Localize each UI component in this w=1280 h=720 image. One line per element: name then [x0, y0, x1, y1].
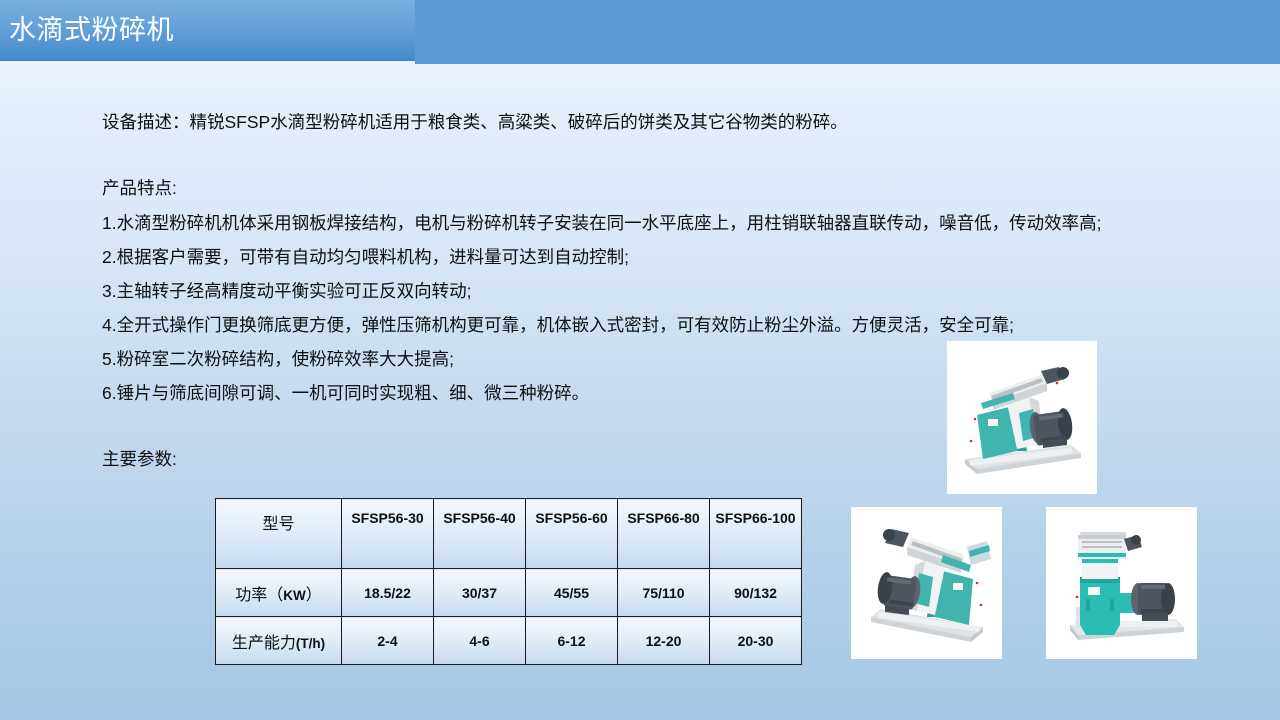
equipment-description: 设备描述：精锐SFSP水滴型粉碎机适用于粮食类、高粱类、破碎后的饼类及其它谷物类…: [102, 111, 848, 133]
cell-capacity-sfsp56-60: 6-12: [526, 617, 618, 665]
feature-item-2: 2.根据客户需要，可带有自动均匀喂料机构，进料量可达到自动控制;: [102, 246, 629, 268]
row-label-power-unit: KW: [283, 588, 306, 603]
table-header-row: 型号 SFSP56-30 SFSP56-40 SFSP56-60 SFSP66-…: [216, 499, 802, 569]
row-label-power-tail: ）: [306, 587, 322, 604]
cell-capacity-sfsp56-40: 4-6: [434, 617, 526, 665]
row-label-power-main: 功率（: [235, 587, 283, 604]
feature-item-3: 3.主轴转子经高精度动平衡实验可正反双向转动;: [102, 280, 471, 302]
row-label-power: 功率（KW）: [216, 569, 342, 617]
cell-power-sfsp66-100: 90/132: [710, 569, 802, 617]
cell-power-sfsp66-80: 75/110: [618, 569, 710, 617]
product-photo-front-view: [1046, 507, 1197, 659]
features-heading: 产品特点:: [102, 177, 177, 199]
feature-item-1: 1.水滴型粉碎机机体采用钢板焊接结构，电机与粉碎机转子安装在同一水平底座上，用柱…: [102, 212, 1101, 234]
cell-power-sfsp56-40: 30/37: [434, 569, 526, 617]
row-label-capacity: 生产能力(T/h): [216, 617, 342, 665]
cell-capacity-sfsp66-80: 12-20: [618, 617, 710, 665]
table-header-sfsp66-100: SFSP66-100: [710, 499, 802, 569]
cell-capacity-sfsp56-30: 2-4: [342, 617, 434, 665]
cell-power-sfsp56-60: 45/55: [526, 569, 618, 617]
table-row: 功率（KW） 18.5/22 30/37 45/55 75/110 90/132: [216, 569, 802, 617]
product-photo-angled-right-motor: [947, 341, 1097, 494]
header-accent-band-right: [415, 0, 1280, 64]
hammer-mill-illustration-3: [1046, 507, 1197, 659]
feature-item-4: 4.全开式操作门更换筛底更方便，弹性压筛机构更可靠，机体嵌入式密封，可有效防止粉…: [102, 314, 1014, 336]
cell-capacity-sfsp66-100: 20-30: [710, 617, 802, 665]
page-title: 水滴式粉碎机: [9, 13, 174, 47]
feature-item-5: 5.粉碎室二次粉碎结构，使粉碎效率大大提高;: [102, 348, 454, 370]
table-header-model: 型号: [216, 499, 342, 569]
table-header-sfsp56-30: SFSP56-30: [342, 499, 434, 569]
hammer-mill-illustration-1: [947, 341, 1097, 494]
row-label-capacity-unit: (T/h): [296, 636, 325, 651]
specifications-table: 型号 SFSP56-30 SFSP56-40 SFSP56-60 SFSP66-…: [215, 498, 802, 665]
table-row: 生产能力(T/h) 2-4 4-6 6-12 12-20 20-30: [216, 617, 802, 665]
feature-item-6: 6.锤片与筛底间隙可调、一机可同时实现粗、细、微三种粉碎。: [102, 382, 589, 404]
header-bar: 水滴式粉碎机: [0, 0, 1280, 64]
parameters-heading: 主要参数:: [102, 448, 177, 470]
row-label-capacity-main: 生产能力: [232, 635, 296, 652]
table-header-sfsp56-40: SFSP56-40: [434, 499, 526, 569]
cell-power-sfsp56-30: 18.5/22: [342, 569, 434, 617]
hammer-mill-illustration-2: [851, 507, 1002, 659]
table-header-sfsp56-60: SFSP56-60: [526, 499, 618, 569]
table-header-sfsp66-80: SFSP66-80: [618, 499, 710, 569]
product-photo-angled-left-motor: [851, 507, 1002, 659]
